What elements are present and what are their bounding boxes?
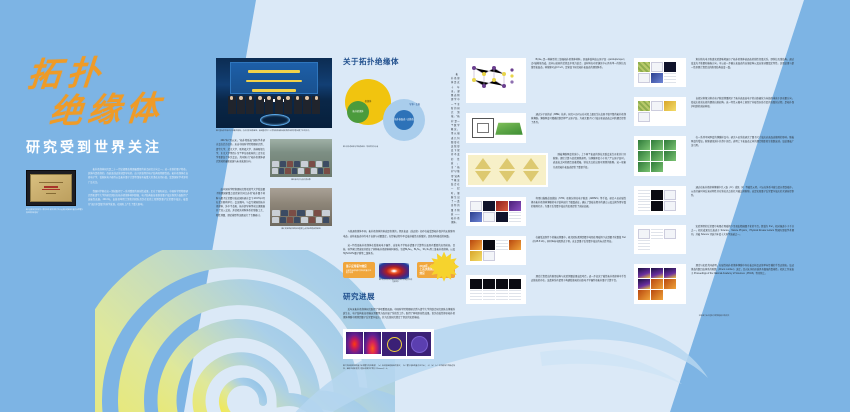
column-four: Bi₂Se₃ 是一种典型的三维强拓扑绝缘体材料，其晶体结构由五原子层（quint… xyxy=(466,58,626,314)
thickness-tile-grid xyxy=(636,138,684,174)
tile xyxy=(470,251,482,261)
figure-row-cones: 随着薄膜厚度的减小，上下两个表面的狄拉克锥会发生杂化并打开能隙。理论计算与实验观… xyxy=(466,153,626,191)
about-paragraph-2: 与普通绝缘体不同，拓扑绝缘体的体态是绝缘的，但其表面（或边缘）却存在着受到拓扑保… xyxy=(343,230,455,238)
tile xyxy=(470,240,482,250)
figure-row-arpes: 角分辨光电子能谱实验清晰地展示了拓扑绝缘体表面态的线性色散关系，即狄拉克锥结构。… xyxy=(634,58,794,91)
tile xyxy=(509,279,521,289)
tile xyxy=(638,290,650,300)
thin-film-schematic xyxy=(468,115,524,141)
thickness-figure-text: 在一系列不同厚度的薄膜样品中，研究人员系统研究了量子尺寸效应对表面态能隙的影响。… xyxy=(691,136,794,149)
figure-row-stm: 利用扫描隧道显微镜（STM）和角分辨光电子能谱（ARPES）等手段，研究人员对磁… xyxy=(466,197,626,230)
venn-diagram: 绝缘体 拓扑绝缘体 导体 / 金属 拓扑表面态 / 边缘态 xyxy=(343,77,447,143)
tile xyxy=(664,62,676,72)
certificate-caption: 图1 国家自然科学奖一等奖证书 获奖项目 "四十层拓扑绝缘体中量子反常霍尔效应的… xyxy=(26,209,84,214)
certificate-face xyxy=(30,174,72,202)
stage-people-row xyxy=(228,96,321,114)
qahe-figure-caption: 图7 实验观测到的量子反常霍尔效应数据：（a）纵向电阻随栅压的变化；（b）霍尔电… xyxy=(343,365,455,371)
tile xyxy=(664,101,676,111)
tile xyxy=(496,290,508,300)
figure-row-transport: 在极低温条件下的输运测量中，研究团队观测到霍尔电阻在零磁场下达到量子化数值 h/… xyxy=(466,236,626,269)
stm-figure-text: 利用扫描隧道显微镜（STM）和角分辨光电子能谱（ARPES）等手段，研究人员对磁… xyxy=(531,197,626,210)
tile xyxy=(651,268,663,278)
ring-panel-d xyxy=(407,332,431,356)
figure-row-lattice: Bi₂Se₃ 是一种典型的三维强拓扑绝缘体材料，其晶体结构由五原子层（quint… xyxy=(466,58,626,107)
chiral-figure-text: 理论与实验共同表明，在磁性拓扑绝缘体薄膜中存在着沿样品边缘单向传播的手性边缘态。… xyxy=(691,264,794,277)
figure-row-thinfilm: 通过分子束外延（MBE）技术，研究人员可以在衬底上逐层生长出原子级平整的拓扑绝缘… xyxy=(466,113,626,147)
group-photo-two-people xyxy=(272,209,329,223)
arpes-spectrum-thumbnail xyxy=(379,263,409,279)
transport-data-figure xyxy=(466,236,526,265)
tile xyxy=(496,212,508,222)
tile xyxy=(638,229,650,239)
heading-about-topological-insulator: 关于拓扑绝缘体 xyxy=(343,56,455,67)
left-paragraph-1: 拓扑绝缘体研究是二十一世纪凝聚态物理最重要的前沿研究方向之一。这一全新的量子物态… xyxy=(88,168,188,185)
orange-box-qahe: 量子反常霍尔效应 无需外加磁场即可实现的量子化霍尔电导 xyxy=(343,262,375,279)
about-paragraph-1: 拓扑绝缘体是近十年来，凝聚态物理学中一个全新的研究领域。"拓扑"是一个数学概念，… xyxy=(451,73,460,225)
tile xyxy=(651,162,663,172)
thinfilm-figure-text: 通过分子束外延（MBE）技术，研究人员可以在衬底上逐层生长出原子级平整的拓扑绝缘… xyxy=(531,113,626,126)
band-figure-text: 理论计算给出的能带结构与实验测量结果高度吻合，进一步证实了磁性拓扑绝缘体中手性边… xyxy=(531,275,626,283)
brillouin-zone-sketch xyxy=(472,118,494,138)
tile xyxy=(638,279,650,289)
heatmap-panel-b xyxy=(364,332,381,354)
orange-box-discovery: 2013年，中国科学家在实验上首次观测到量子反常霍尔效应 xyxy=(417,262,456,279)
device-tile-grid xyxy=(636,227,684,252)
tile xyxy=(638,162,650,172)
tile xyxy=(483,279,495,289)
spectrum-caption: 图6 角分辨光电子能谱测得的狄拉克锥型表面态色散关系 xyxy=(379,279,413,283)
left-paragraph-2: 我国科学家在这一领域取得了一系列重要的原创性成果，走在了国际前沿。中国科学院物理… xyxy=(88,190,188,207)
dirac-cone-figure xyxy=(466,153,548,187)
venn-circle-topological: 拓扑绝缘体 xyxy=(347,101,369,123)
tile xyxy=(638,101,650,111)
column-three: 关于拓扑绝缘体 绝缘体 拓扑绝缘体 导体 / 金属 拓扑表面态 / 边缘态 xyxy=(343,56,455,371)
tile xyxy=(470,279,482,289)
heading-research-progress: 研究进展 xyxy=(343,291,455,302)
magnetic-tile-grid xyxy=(636,188,684,213)
transport-tile-grid xyxy=(468,238,524,263)
tile xyxy=(651,73,663,83)
spin-tile-grid xyxy=(636,99,684,124)
tile xyxy=(638,62,650,72)
tile xyxy=(651,190,663,200)
group-photo-one-people xyxy=(272,160,329,174)
dirac-cone-2 xyxy=(496,158,518,182)
stage-floor-logo xyxy=(260,114,290,126)
calligraphic-title: 拓扑 绝缘体 xyxy=(24,55,224,125)
certificate-frame xyxy=(26,170,76,206)
venn-circle-surface-state: 拓扑表面态 / 边缘态 xyxy=(394,110,414,130)
group-photo-two xyxy=(270,188,332,226)
col2-paragraph-2: 由中国科学院物理研究所和清华大学低维量子物理国家重点实验室共同主办的"拓扑量子材… xyxy=(216,188,265,218)
orange-box-qahe-body: 无需外加磁场即可实现的量子化霍尔电导 xyxy=(346,270,372,275)
figure-row-spin: 自旋分辨角分辨光电子能谱测量揭示了拓扑表面态电子的自旋极化方向始终垂直于其动量方… xyxy=(634,97,794,130)
tile xyxy=(483,212,495,222)
dirac-cone-panels xyxy=(468,155,546,185)
group-photo-one-caption: 图3 研讨会与会代表合影 xyxy=(270,179,332,182)
tile xyxy=(496,201,508,211)
poster-canvas: 拓扑 绝缘体 研究受到世界关注 图1 国家自然科学奖一等奖证书 获奖项目 "四十… xyxy=(0,0,850,412)
dirac-cone-1 xyxy=(472,158,494,182)
highlight-box-row: 量子反常霍尔效应 无需外加磁场即可实现的量子化霍尔电导 图6 角分辨光电子能谱测… xyxy=(343,262,455,283)
tile xyxy=(651,279,663,289)
tile xyxy=(470,201,482,211)
tile xyxy=(664,140,676,150)
tile xyxy=(651,101,663,111)
figure-row-thickness: 在一系列不同厚度的薄膜样品中，研究人员系统研究了量子尺寸效应对表面态能隙的影响。… xyxy=(634,136,794,180)
transport-figure-text: 在极低温条件下的输运测量中，研究团队观测到霍尔电阻在零磁场下达到量子化数值 h/… xyxy=(531,236,626,244)
venn-caption: 图5 拓扑绝缘体与常规绝缘体、导体的关系示意 xyxy=(343,146,447,148)
group-photo-one xyxy=(270,139,332,177)
group-photo-two-caption: 图4 实验室研究团队在国家重点实验室前合影留念 xyxy=(270,228,332,231)
tile xyxy=(509,201,521,211)
device-application-figure xyxy=(634,225,686,254)
dirac-cone-3 xyxy=(520,158,542,182)
tile xyxy=(651,62,663,72)
tile xyxy=(638,73,650,83)
tile xyxy=(638,201,650,211)
orange-box-qahe-title: 量子反常霍尔效应 xyxy=(346,265,372,269)
tile xyxy=(638,112,650,122)
poster-title-block: 拓扑 绝缘体 研究受到世界关注 xyxy=(24,55,224,157)
figure-row-chiral: 理论与实验共同表明，在磁性拓扑绝缘体薄膜中存在着沿样品边缘单向传播的手性边缘态。… xyxy=(634,264,794,308)
tile xyxy=(509,240,521,250)
cones-figure-text: 随着薄膜厚度的减小，上下两个表面的狄拉克锥会发生杂化并打开能隙。理论计算与实验观… xyxy=(553,153,626,170)
title-line-1: 拓扑 xyxy=(26,52,226,92)
tile xyxy=(664,279,676,289)
venn-label-blue: 导体 / 金属 xyxy=(409,104,420,107)
col2-paragraph-1: 2017年7月以来，"拓扑物质态"国际学术研讨会在北京召开。来自中国科学院物理研… xyxy=(216,139,265,164)
tile xyxy=(638,190,650,200)
thickness-dependence-figure xyxy=(634,136,686,176)
tile xyxy=(664,73,676,83)
left-body-copy: 拓扑绝缘体研究是二十一世纪凝聚态物理最重要的前沿研究方向之一。这一全新的量子物态… xyxy=(88,168,188,212)
spin-texture-figure xyxy=(634,97,686,126)
tile xyxy=(664,229,676,239)
magnetic-doping-figure xyxy=(634,186,686,215)
venn-label-dark-blue: 拓扑表面态 / 边缘态 xyxy=(394,119,413,122)
tile xyxy=(509,212,521,222)
tile xyxy=(651,151,663,161)
stage-screen xyxy=(230,62,318,94)
device-figure-text: 实验测得的反常霍尔电阻在零磁场下呈现出精确量子化的平台，数值为 h/e²，相对偏… xyxy=(691,225,794,238)
tile xyxy=(664,201,676,211)
tile xyxy=(638,140,650,150)
spin-figure-text: 自旋分辨角分辨光电子能谱测量揭示了拓扑表面态电子的自旋极化方向始终垂直于其动量方… xyxy=(691,97,794,110)
figure-row-device: 实验测得的反常霍尔电阻在零磁场下呈现出精确量子化的平台，数值为 h/e²，相对偏… xyxy=(634,225,794,258)
tile xyxy=(638,268,650,278)
tile xyxy=(664,268,676,278)
tile xyxy=(651,140,663,150)
quantized-hall-figure xyxy=(634,264,686,304)
title-line-2: 绝缘体 xyxy=(48,89,226,128)
column-five-footer-note: 本版图文由中国科学院物理研究所提供 xyxy=(634,314,794,317)
tile xyxy=(651,290,663,300)
tile xyxy=(664,190,676,200)
thin-film-schematic-figure xyxy=(466,113,526,143)
certificate-block: 图1 国家自然科学奖一等奖证书 获奖项目 "四十层拓扑绝缘体中量子反常霍尔效应的… xyxy=(26,170,78,214)
tile xyxy=(651,201,663,211)
progress-paragraph-1: 近年来拓扑绝缘体研究取得了多项重要进展。中国科学院物理研究所与清华大学的联合研究… xyxy=(343,308,455,321)
heatmap-panel-a xyxy=(346,332,363,354)
figure-row-band: 理论计算给出的能带结构与实验测量结果高度吻合，进一步证实了磁性拓扑绝缘体中手性边… xyxy=(466,275,626,308)
band-tile-grid xyxy=(468,277,524,302)
magnetic-figure-text: 通过在拓扑绝缘体薄膜中引入铬（Cr）或钒（V）等磁性元素，可以在体系中建立起长程… xyxy=(691,186,794,199)
band-structure-figure xyxy=(466,275,526,304)
tile xyxy=(483,201,495,211)
tile xyxy=(496,279,508,289)
tile xyxy=(509,290,521,300)
arpes-figure-text: 角分辨光电子能谱实验清晰地展示了拓扑绝缘体表面态的线性色散关系，即狄拉克锥结构。… xyxy=(691,58,794,71)
tile xyxy=(638,240,650,250)
chiral-tile-grid xyxy=(636,266,684,302)
crystal-lattice-svg xyxy=(468,60,524,96)
conference-stage-photo xyxy=(216,58,332,128)
arpes-tile-grid xyxy=(636,60,684,85)
tile xyxy=(483,251,495,261)
film-slab-sketch xyxy=(495,123,522,135)
tile xyxy=(470,212,482,222)
figure-row-magnetic: 通过在拓扑绝缘体薄膜中引入铬（Cr）或钒（V）等磁性元素，可以在体系中建立起长程… xyxy=(634,186,794,219)
column-two: 图2 国际学术研讨会开幕式现场，与会代表合影留念。来自国内外二十余所高校和科研机… xyxy=(216,58,332,231)
crystal-lattice-figure xyxy=(466,58,526,103)
lattice-figure-text: Bi₂Se₃ 是一种典型的三维强拓扑绝缘体材料，其晶体结构由五原子层（quint… xyxy=(531,58,626,71)
poster-subtitle: 研究受到世界关注 xyxy=(26,137,224,157)
tile xyxy=(483,240,495,250)
stm-tile-grid xyxy=(468,199,524,224)
qahe-data-figure xyxy=(343,329,434,359)
qahe-heatmap-grid xyxy=(345,331,432,357)
tile xyxy=(470,290,482,300)
venn-label-green: 拓扑绝缘体 xyxy=(353,111,364,114)
stage-photo-caption: 图2 国际学术研讨会开幕式现场，与会代表合影留念。来自国内外二十余所高校和科研机… xyxy=(216,130,332,133)
tile xyxy=(638,151,650,161)
arpes-mapping-figure xyxy=(634,58,686,87)
column-five: 角分辨光电子能谱实验清晰地展示了拓扑绝缘体表面态的线性色散关系，即狄拉克锥结构。… xyxy=(634,58,794,317)
stm-measurement-figure xyxy=(466,197,526,226)
ring-panel-c xyxy=(382,332,406,356)
tile xyxy=(483,290,495,300)
venn-label-yellow: 绝缘体 xyxy=(365,101,372,104)
tile xyxy=(664,151,676,161)
tile xyxy=(496,240,508,250)
tile xyxy=(651,229,663,239)
